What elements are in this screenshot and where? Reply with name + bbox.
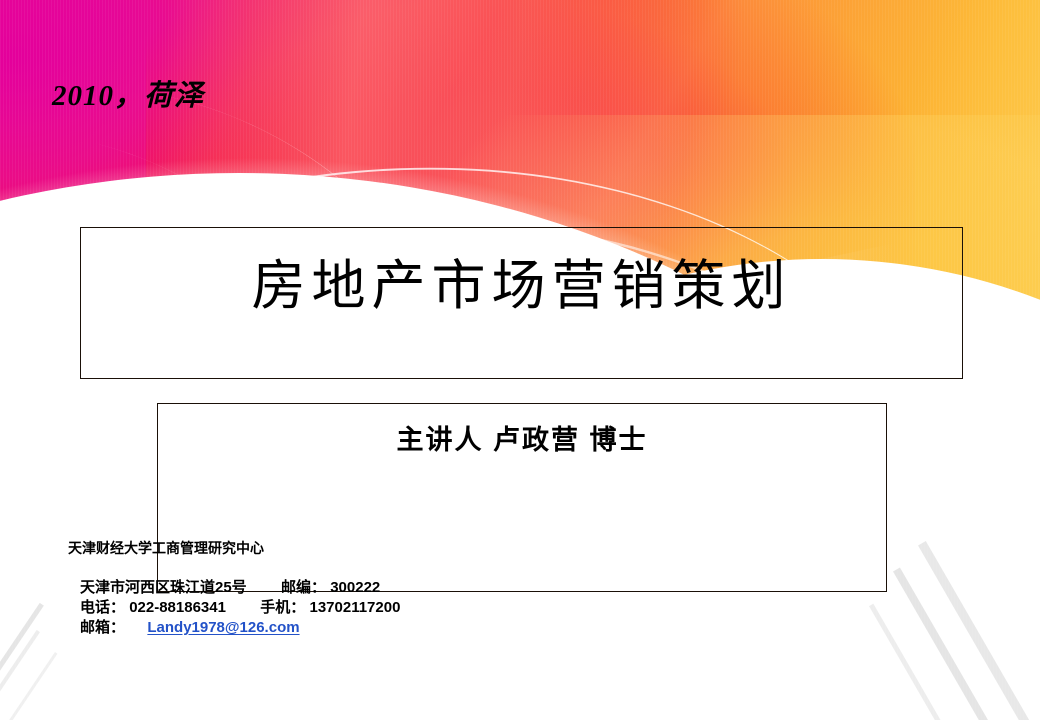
postcode-label: 邮编：	[281, 579, 326, 596]
gray-streak-bottom-right-c	[869, 604, 948, 720]
gray-streak-bottom-right-b	[918, 541, 1036, 720]
speaker-name: 主讲人 卢政营 博士	[158, 418, 886, 457]
speaker-box: 主讲人 卢政营 博士	[157, 403, 887, 592]
mobile-label: 手机：	[260, 599, 305, 616]
phone-value: 022-88186341	[129, 599, 226, 616]
phone-label: 电话：	[80, 599, 125, 616]
blue-crescent-accent	[903, 375, 1040, 554]
blue-crescent-highlight	[947, 404, 1029, 461]
contact-row-email: 邮箱： Landy1978@126.com	[80, 618, 400, 638]
address-text: 天津市河西区珠江道25号	[80, 579, 247, 596]
gray-streak-bottom-left-c	[4, 652, 58, 720]
gray-streak-bottom-left-a	[0, 603, 44, 720]
organization-name: 天津财经大学工商管理研究中心	[68, 538, 264, 558]
postcode-value: 300222	[330, 579, 380, 596]
contact-block: 天津市河西区珠江道25号 邮编： 300222 电话： 022-88186341…	[80, 578, 400, 638]
blue-crescent-mask	[935, 363, 1040, 542]
contact-row-phone: 电话： 022-88186341 手机： 13702117200	[80, 598, 400, 618]
title-box: 房地产市场营销策划	[80, 227, 963, 379]
mobile-value: 13702117200	[309, 599, 400, 616]
email-link[interactable]: Landy1978@126.com	[147, 619, 299, 636]
gray-streak-bottom-left-b	[0, 630, 40, 720]
page-title: 房地产市场营销策划	[81, 241, 962, 320]
contact-row-address: 天津市河西区珠江道25号 邮编： 300222	[80, 578, 400, 598]
presentation-title-slide: 2010，荷泽 房地产市场营销策划 主讲人 卢政营 博士 天津财经大学工商管理研…	[0, 0, 1040, 720]
gray-streak-bottom-right-a	[893, 567, 995, 720]
slide-eyebrow-date-location: 2010，荷泽	[52, 72, 204, 114]
email-label: 邮箱：	[80, 619, 125, 636]
